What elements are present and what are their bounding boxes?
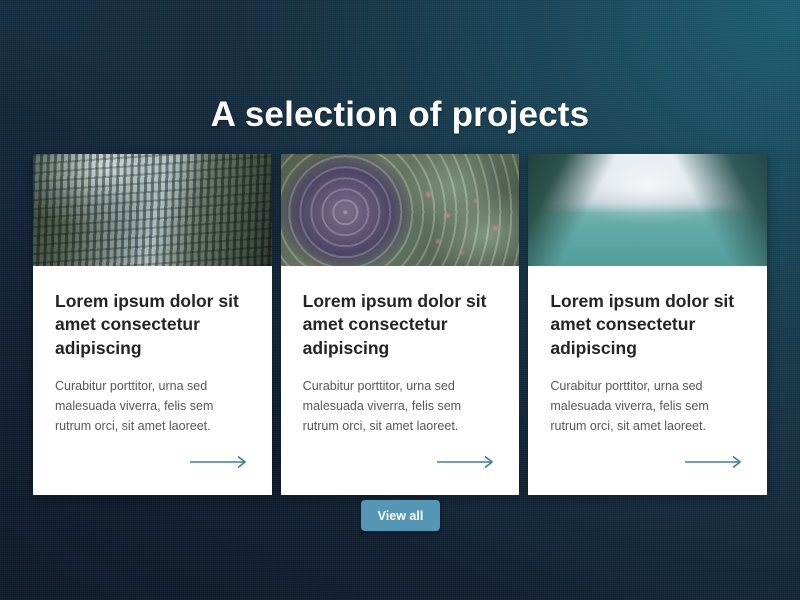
project-card[interactable]: Lorem ipsum dolor sit amet consectetur a… <box>528 154 767 495</box>
card-text: Curabitur porttitor, urna sed malesuada … <box>55 376 250 437</box>
card-media <box>528 154 767 266</box>
mountain-lake-photo <box>528 154 767 266</box>
card-media <box>281 154 520 266</box>
arrow-right-icon <box>685 455 745 469</box>
arrow-right-icon <box>190 455 250 469</box>
card-text: Curabitur porttitor, urna sed malesuada … <box>303 376 498 437</box>
card-heading: Lorem ipsum dolor sit amet consectetur a… <box>303 290 498 360</box>
card-arrow-link[interactable] <box>550 437 745 495</box>
card-body: Lorem ipsum dolor sit amet consectetur a… <box>528 266 767 495</box>
succulent-garden-photo <box>281 154 520 266</box>
view-all-button[interactable]: View all <box>361 500 440 531</box>
card-arrow-link[interactable] <box>303 437 498 495</box>
card-body: Lorem ipsum dolor sit amet consectetur a… <box>33 266 272 495</box>
project-card[interactable]: Lorem ipsum dolor sit amet consectetur a… <box>33 154 272 495</box>
card-body: Lorem ipsum dolor sit amet consectetur a… <box>281 266 520 495</box>
forest-waterfall-photo <box>33 154 272 266</box>
card-text: Curabitur porttitor, urna sed malesuada … <box>550 376 745 437</box>
card-arrow-link[interactable] <box>55 437 250 495</box>
project-card-list: Lorem ipsum dolor sit amet consectetur a… <box>33 154 767 495</box>
card-heading: Lorem ipsum dolor sit amet consectetur a… <box>55 290 250 360</box>
page-title: A selection of projects <box>0 95 800 135</box>
card-heading: Lorem ipsum dolor sit amet consectetur a… <box>550 290 745 360</box>
page-root: A selection of projects Lorem ipsum dolo… <box>0 0 800 600</box>
card-media <box>33 154 272 266</box>
project-card[interactable]: Lorem ipsum dolor sit amet consectetur a… <box>281 154 520 495</box>
arrow-right-icon <box>437 455 497 469</box>
